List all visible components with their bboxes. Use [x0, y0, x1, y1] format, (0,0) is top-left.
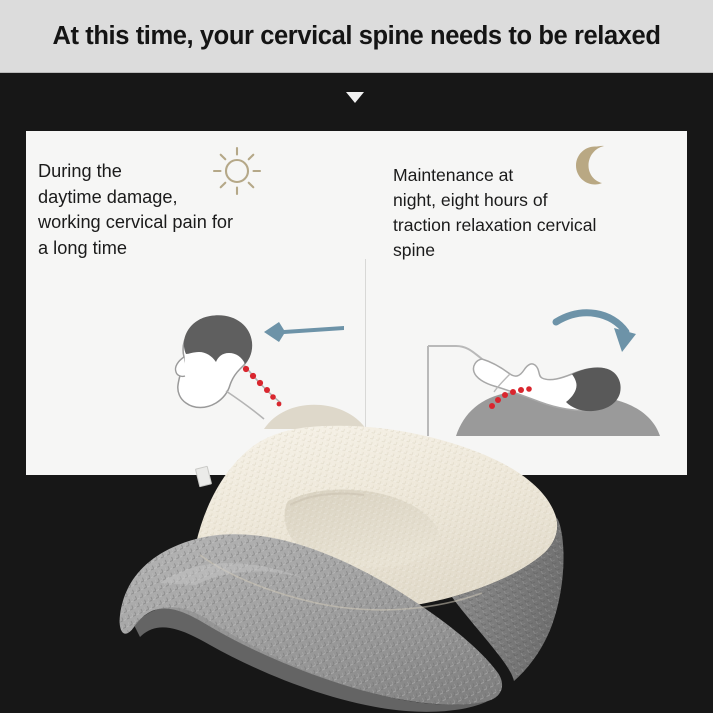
right-text-line-3: traction relaxation cervical: [393, 213, 678, 238]
left-text-line-3: working cervical pain for: [38, 210, 338, 236]
right-text-line-1: Maintenance at: [393, 163, 678, 188]
left-text-line-4: a long time: [38, 236, 338, 262]
triangle-down-icon: [346, 92, 364, 103]
upright-head-neck-pain-illustration: [146, 299, 366, 429]
left-text-line-1: During the: [38, 159, 338, 185]
info-card: During the daytime damage, working cervi…: [26, 131, 687, 475]
right-text-line-2: night, eight hours of: [393, 188, 678, 213]
pillow-base: [120, 534, 502, 705]
pillow-right-side: [452, 517, 564, 681]
right-text-line-4: spine: [393, 238, 678, 263]
sun-icon: [209, 143, 265, 199]
pillow-center-indent: [285, 489, 439, 567]
page-title: At this time, your cervical spine needs …: [52, 22, 660, 51]
moon-icon: [571, 142, 617, 188]
right-text-block: Maintenance at night, eight hours of tra…: [393, 163, 678, 263]
left-text-line-2: daytime damage,: [38, 185, 338, 211]
left-text-block: During the daytime damage, working cervi…: [38, 159, 338, 261]
reclining-head-on-pillow-illustration: [416, 296, 687, 446]
header-banner: At this time, your cervical spine needs …: [0, 0, 713, 73]
